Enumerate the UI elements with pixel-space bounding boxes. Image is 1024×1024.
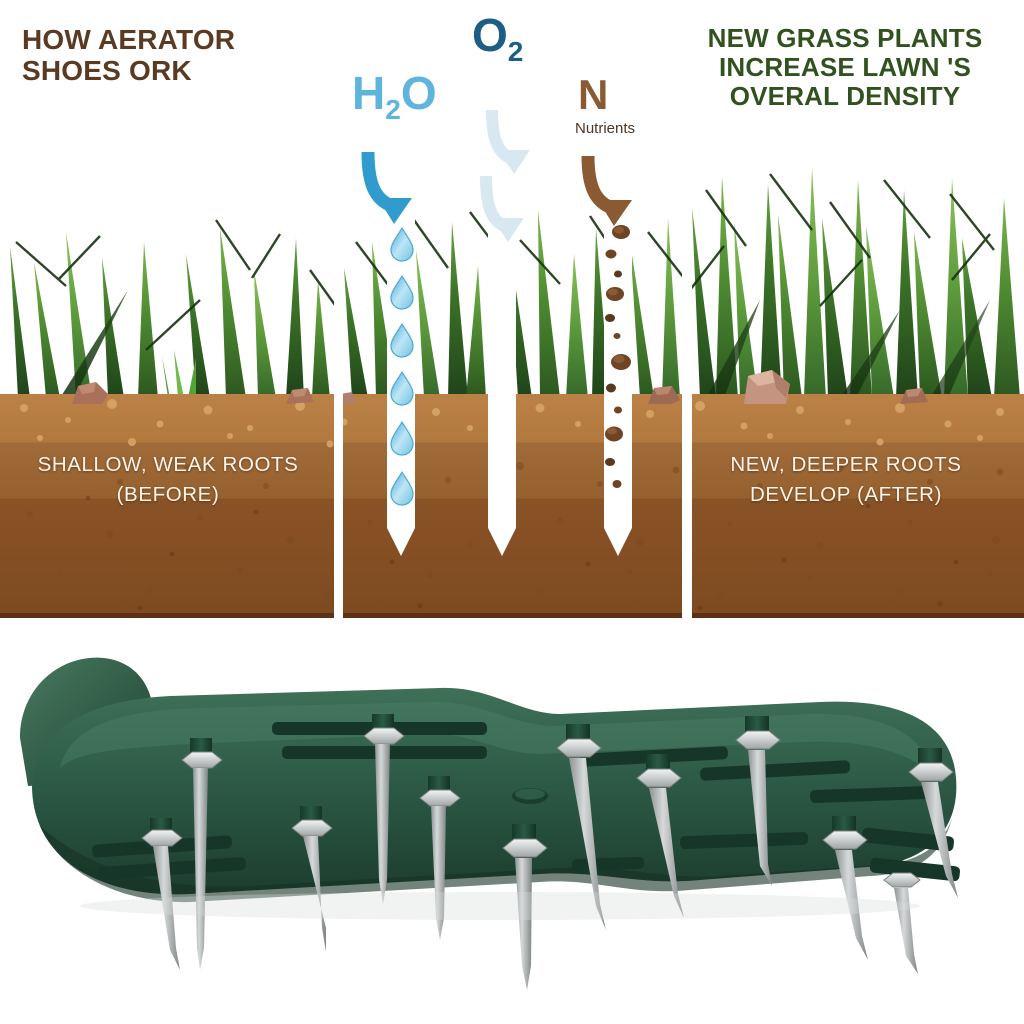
page-title-right: NEW GRASS PLANTS INCREASE LAWN 'S OVERAL… xyxy=(680,24,1010,111)
caption-deeper-roots-after: NEW, DEEPER ROOTS DEVELOP (AFTER) xyxy=(686,450,1006,509)
h2o-h: H xyxy=(352,67,385,119)
oxygen-flow-arrow-lower xyxy=(486,176,524,242)
shoe-arch-hole xyxy=(512,788,548,804)
oxygen-flow-arrow-upper xyxy=(492,110,530,174)
nutrient-flow-arrow xyxy=(588,156,632,226)
water-flow-arrow xyxy=(368,152,412,224)
o2-subscript: 2 xyxy=(508,36,524,67)
h2o-o: O xyxy=(401,67,437,119)
label-h2o: H2O xyxy=(352,70,437,124)
product-photo-panel xyxy=(0,618,1024,1024)
caption-shallow-roots-before: SHALLOW, WEAK ROOTS (BEFORE) xyxy=(8,450,328,509)
spike xyxy=(884,873,920,974)
label-nutrients-caption: Nutrients xyxy=(555,120,655,137)
o2-o: O xyxy=(472,9,508,61)
label-o2: O2 xyxy=(472,12,523,66)
h2o-subscript: 2 xyxy=(385,94,401,125)
spike xyxy=(823,816,868,960)
label-nitrogen: N xyxy=(578,74,608,116)
aerator-shoe-sole-image xyxy=(0,618,1024,1024)
page-title-left: HOW AERATOR SHOES ORK xyxy=(22,24,322,87)
aeration-infographic-panel: HOW AERATOR SHOES ORK NEW GRASS PLANTS I… xyxy=(0,0,1024,618)
